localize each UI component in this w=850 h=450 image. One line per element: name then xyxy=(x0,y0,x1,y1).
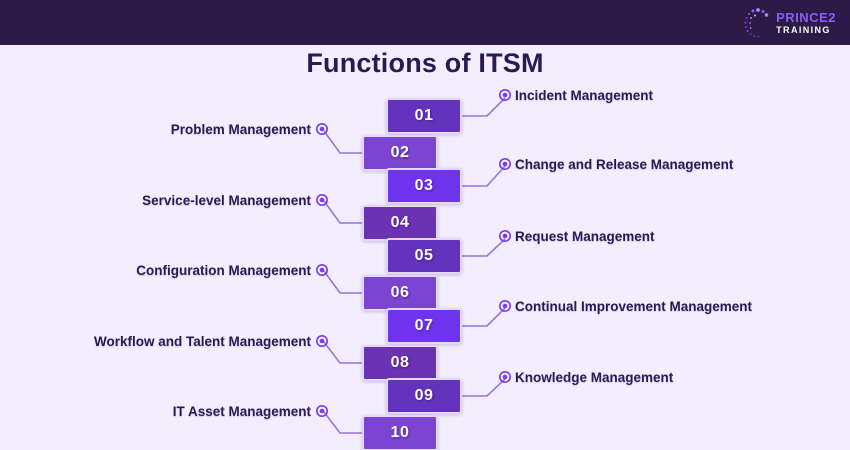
connector-02 xyxy=(324,131,362,153)
item-label-incident-management[interactable]: Incident Management xyxy=(515,88,653,103)
step-number-03: 03 xyxy=(415,177,434,195)
item-label-problem-management[interactable]: Problem Management xyxy=(171,122,311,137)
item-label-it-asset-management[interactable]: IT Asset Management xyxy=(173,404,311,419)
connector-10 xyxy=(324,412,362,433)
step-number-04: 04 xyxy=(391,214,410,232)
item-label-continual-improvement-management[interactable]: Continual Improvement Management xyxy=(515,299,752,314)
step-box-09[interactable]: 09 xyxy=(386,378,462,414)
item-label-configuration-management[interactable]: Configuration Management xyxy=(136,263,311,278)
infographic-canvas: PRINCE2 TRAINING Functions of ITSM xyxy=(0,0,850,450)
item-label-knowledge-management[interactable]: Knowledge Management xyxy=(515,370,673,385)
marker-04 xyxy=(317,195,327,205)
marker-07 xyxy=(500,301,510,311)
connector-08 xyxy=(324,342,362,363)
step-number-01: 01 xyxy=(415,107,434,125)
step-box-02[interactable]: 02 xyxy=(362,135,438,171)
step-number-07: 07 xyxy=(415,317,434,335)
step-box-06[interactable]: 06 xyxy=(362,275,438,311)
marker-03 xyxy=(500,159,510,169)
item-label-request-management[interactable]: Request Management xyxy=(515,229,655,244)
step-box-07[interactable]: 07 xyxy=(386,308,462,344)
step-box-04[interactable]: 04 xyxy=(362,205,438,241)
step-box-03[interactable]: 03 xyxy=(386,168,462,204)
marker-06 xyxy=(317,265,327,275)
connector-05 xyxy=(462,239,505,256)
connector-09 xyxy=(462,379,505,396)
connector-04 xyxy=(324,201,362,223)
step-number-06: 06 xyxy=(391,284,410,302)
connector-03 xyxy=(462,166,505,186)
step-number-10: 10 xyxy=(391,424,410,442)
step-box-08[interactable]: 08 xyxy=(362,345,438,381)
step-box-05[interactable]: 05 xyxy=(386,238,462,274)
step-number-02: 02 xyxy=(391,144,410,162)
step-box-01[interactable]: 01 xyxy=(386,98,462,134)
step-box-10[interactable]: 10 xyxy=(362,415,438,450)
marker-10 xyxy=(317,406,327,416)
marker-02 xyxy=(317,124,327,134)
marker-09 xyxy=(500,372,510,382)
connector-01 xyxy=(462,98,505,116)
step-number-05: 05 xyxy=(415,247,434,265)
connector-07 xyxy=(462,308,505,326)
item-label-change-and-release-management[interactable]: Change and Release Management xyxy=(515,157,733,172)
connector-06 xyxy=(324,271,362,293)
marker-08 xyxy=(317,336,327,346)
item-label-workflow-and-talent-management[interactable]: Workflow and Talent Management xyxy=(94,334,311,349)
step-number-08: 08 xyxy=(391,354,410,372)
item-label-service-level-management[interactable]: Service-level Management xyxy=(142,193,311,208)
step-number-09: 09 xyxy=(415,387,434,405)
